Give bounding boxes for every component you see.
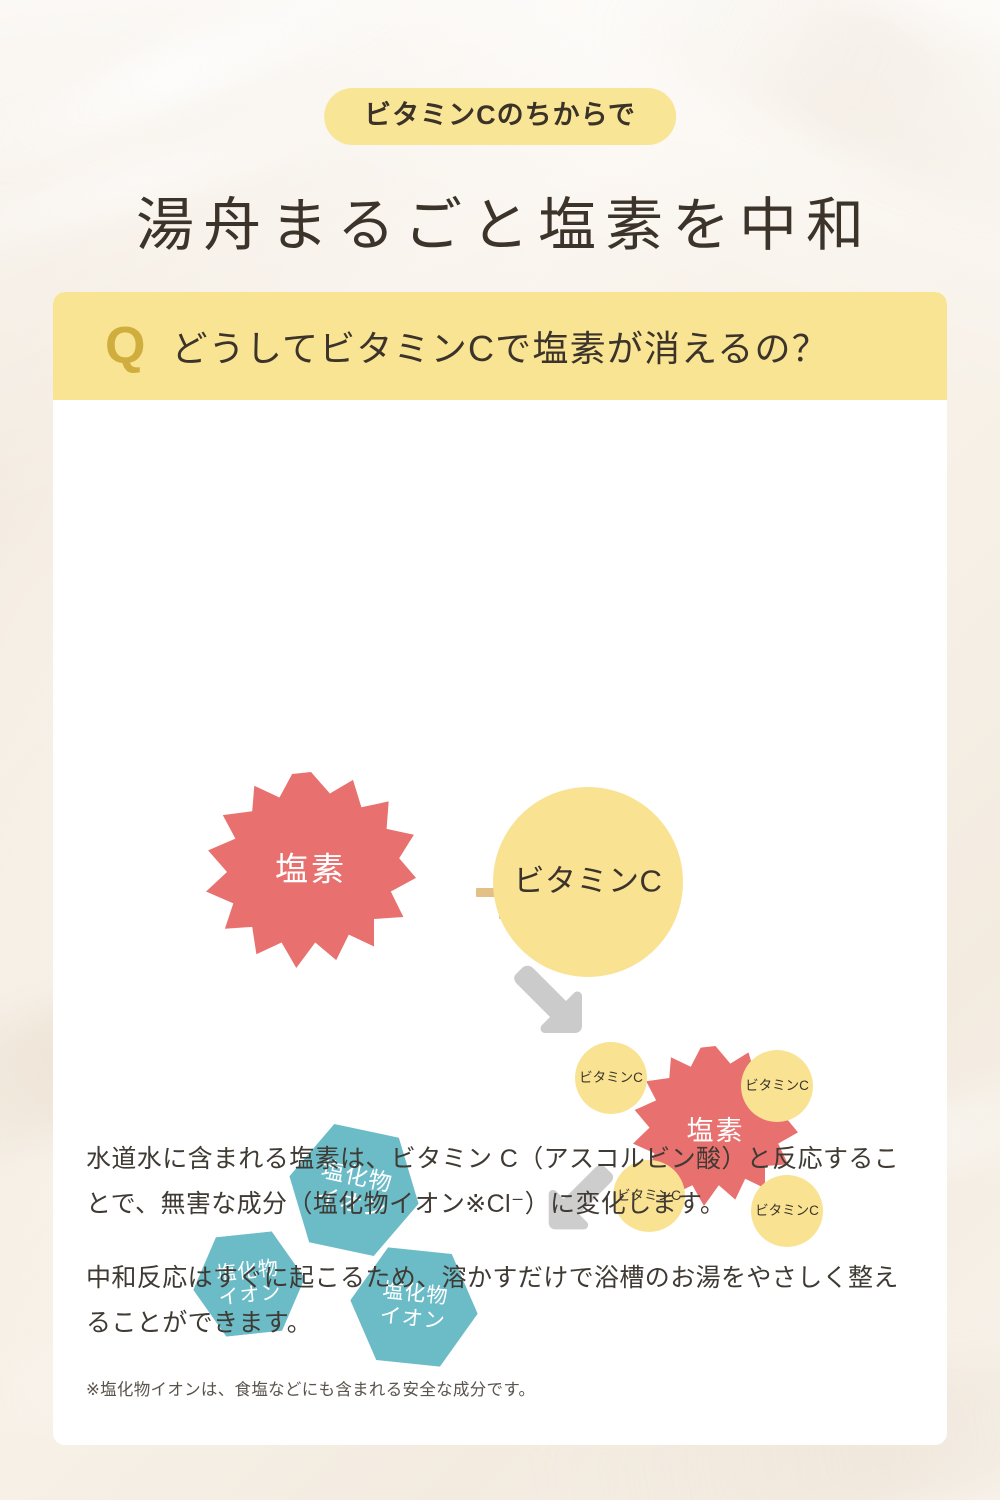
reaction-diagram: 塩素 ビタミンC 塩素 ビタミンC <box>53 400 947 1100</box>
vitamin-c-label: ビタミンC <box>493 864 683 901</box>
chlorine-label: 塩素 <box>206 851 416 890</box>
vitamin-c-label: ビタミンC <box>741 1078 813 1094</box>
paragraph-1: 水道水に含まれる塩素は、ビタミン C（アスコルビン酸）と反応することで、無害な成… <box>86 1137 914 1226</box>
qa-card: Q どうしてビタミンCで塩素が消えるの？ 塩素 ビタミンC <box>53 292 947 1445</box>
question-marker-icon: Q <box>105 320 145 372</box>
question-text: どうしてビタミンCで塩素が消えるの？ <box>171 320 828 372</box>
vitamin-c-mini-circle: ビタミンC <box>575 1042 647 1114</box>
chlorine-burst-shape: 塩素 <box>206 772 416 968</box>
vitamin-c-circle-shape: ビタミンC <box>493 787 683 977</box>
vitamin-c-label: ビタミンC <box>575 1070 647 1086</box>
explanation-text: 水道水に含まれる塩素は、ビタミン C（アスコルビン酸）と反応することで、無害な成… <box>86 1137 914 1403</box>
question-header: Q どうしてビタミンCで塩素が消えるの？ <box>53 292 947 400</box>
paragraph-2: 中和反応はすぐに起こるため、溶かすだけで浴槽のお湯をやさしく整えることができます… <box>86 1256 914 1345</box>
tagline-badge: ビタミンCのちからで <box>324 88 676 145</box>
page-title: 湯舟まるごと塩素を中和 <box>0 178 1000 262</box>
footnote: ※塩化物イオンは、食塩などにも含まれる安全な成分です。 <box>86 1377 914 1403</box>
vitamin-c-mini-circle: ビタミンC <box>741 1050 813 1122</box>
page-root: ビタミンCのちからで 湯舟まるごと塩素を中和 Q どうしてビタミンCで塩素が消え… <box>0 0 1000 1500</box>
